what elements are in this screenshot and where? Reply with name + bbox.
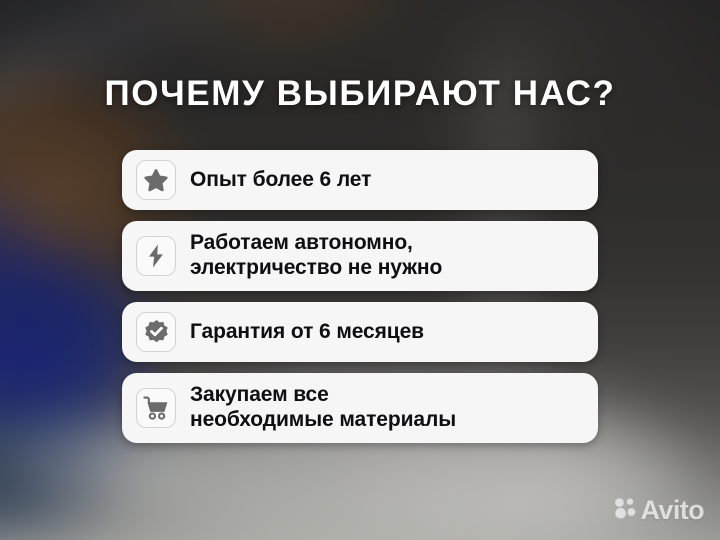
benefit-card-line2: электричество не нужно <box>190 256 442 281</box>
benefit-card-text: Гарантия от 6 месяцев <box>190 320 424 345</box>
benefit-card-line1: Работаем автономно, <box>190 231 442 256</box>
benefit-card-materials: Закупаем все необходимые материалы <box>122 373 598 443</box>
avito-dots-icon <box>613 497 637 524</box>
benefit-card-text: Закупаем все необходимые материалы <box>190 383 456 433</box>
avito-wordmark: Avito <box>641 495 705 526</box>
page-title: ПОЧЕМУ ВЫБИРАЮТ НАС? <box>0 74 720 114</box>
shopping-cart-icon <box>136 388 176 428</box>
verified-badge-icon <box>136 312 176 352</box>
benefit-card-autonomous: Работаем автономно, электричество не нуж… <box>122 221 598 291</box>
benefit-card-experience: Опыт более 6 лет <box>122 150 598 210</box>
poster: ПОЧЕМУ ВЫБИРАЮТ НАС? Опыт более 6 лет <box>0 0 720 540</box>
poster-content: ПОЧЕМУ ВЫБИРАЮТ НАС? Опыт более 6 лет <box>0 0 720 540</box>
benefit-card-line2: необходимые материалы <box>190 408 456 433</box>
benefit-card-line1: Закупаем все <box>190 383 456 408</box>
benefit-card-warranty: Гарантия от 6 месяцев <box>122 302 598 362</box>
benefit-card-line1: Опыт более 6 лет <box>190 168 371 191</box>
benefit-card-text: Работаем автономно, электричество не нуж… <box>190 231 442 281</box>
avito-watermark: Avito <box>613 495 705 526</box>
benefit-card-text: Опыт более 6 лет <box>190 168 371 193</box>
benefit-card-list: Опыт более 6 лет Работаем автономно, эле… <box>122 150 598 443</box>
star-icon <box>136 160 176 200</box>
lightning-bolt-icon <box>136 236 176 276</box>
benefit-card-line1: Гарантия от 6 месяцев <box>190 320 424 343</box>
